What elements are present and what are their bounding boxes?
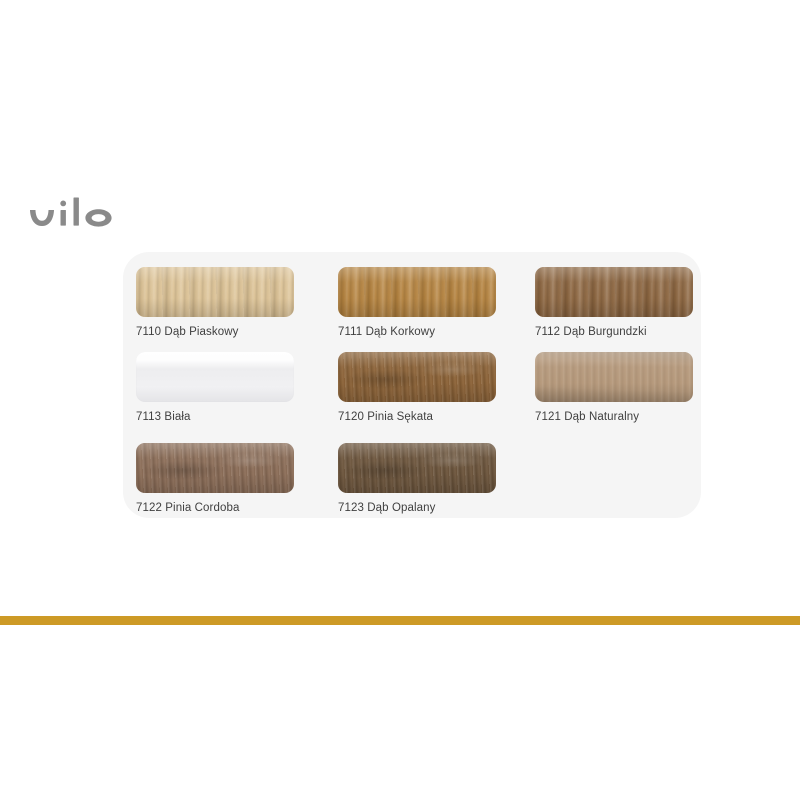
swatch-label-7112: 7112 Dąb Burgundzki	[535, 326, 695, 339]
swatch-label-7122: 7122 Pinia Cordoba	[136, 502, 296, 515]
swatch-label-7123: 7123 Dąb Opalany	[338, 502, 498, 515]
swatch-chip-7111[interactable]	[338, 267, 496, 317]
swatch-chip-7123[interactable]	[338, 443, 496, 493]
swatch-item-7112[interactable]: 7112 Dąb Burgundzki	[535, 267, 695, 339]
swatch-chip-7110[interactable]	[136, 267, 294, 317]
swatch-item-7111[interactable]: 7111 Dąb Korkowy	[338, 267, 498, 339]
swatch-chip-7120[interactable]	[338, 352, 496, 402]
swatch-chip-7122[interactable]	[136, 443, 294, 493]
vilo-logo	[26, 196, 146, 248]
swatch-chip-7112[interactable]	[535, 267, 693, 317]
swatch-item-7110[interactable]: 7110 Dąb Piaskowy	[136, 267, 296, 339]
swatch-sheen-overlay	[535, 267, 693, 317]
swatch-label-7120: 7120 Pinia Sękata	[338, 411, 498, 424]
swatch-sheen-overlay	[136, 443, 294, 493]
colour-swatch-panel: 7110 Dąb Piaskowy7111 Dąb Korkowy7112 Dą…	[123, 252, 701, 518]
swatch-sheen-overlay	[136, 352, 294, 402]
gold-divider-rule	[0, 616, 800, 625]
swatch-grid: 7110 Dąb Piaskowy7111 Dąb Korkowy7112 Dą…	[123, 252, 701, 518]
swatch-chip-7113[interactable]	[136, 352, 294, 402]
swatch-sheen-overlay	[338, 352, 496, 402]
swatch-item-7120[interactable]: 7120 Pinia Sękata	[338, 352, 498, 424]
swatch-item-7122[interactable]: 7122 Pinia Cordoba	[136, 443, 296, 515]
swatch-item-7121[interactable]: 7121 Dąb Naturalny	[535, 352, 695, 424]
swatch-item-7113[interactable]: 7113 Biała	[136, 352, 296, 424]
swatch-label-7113: 7113 Biała	[136, 411, 296, 424]
swatch-sheen-overlay	[136, 267, 294, 317]
vilo-wordmark-icon	[26, 196, 146, 248]
swatch-chip-7121[interactable]	[535, 352, 693, 402]
swatch-item-7123[interactable]: 7123 Dąb Opalany	[338, 443, 498, 515]
swatch-label-7110: 7110 Dąb Piaskowy	[136, 326, 296, 339]
swatch-label-7111: 7111 Dąb Korkowy	[338, 326, 498, 339]
swatch-sheen-overlay	[535, 352, 693, 402]
swatch-sheen-overlay	[338, 443, 496, 493]
swatch-label-7121: 7121 Dąb Naturalny	[535, 411, 695, 424]
swatch-sheen-overlay	[338, 267, 496, 317]
